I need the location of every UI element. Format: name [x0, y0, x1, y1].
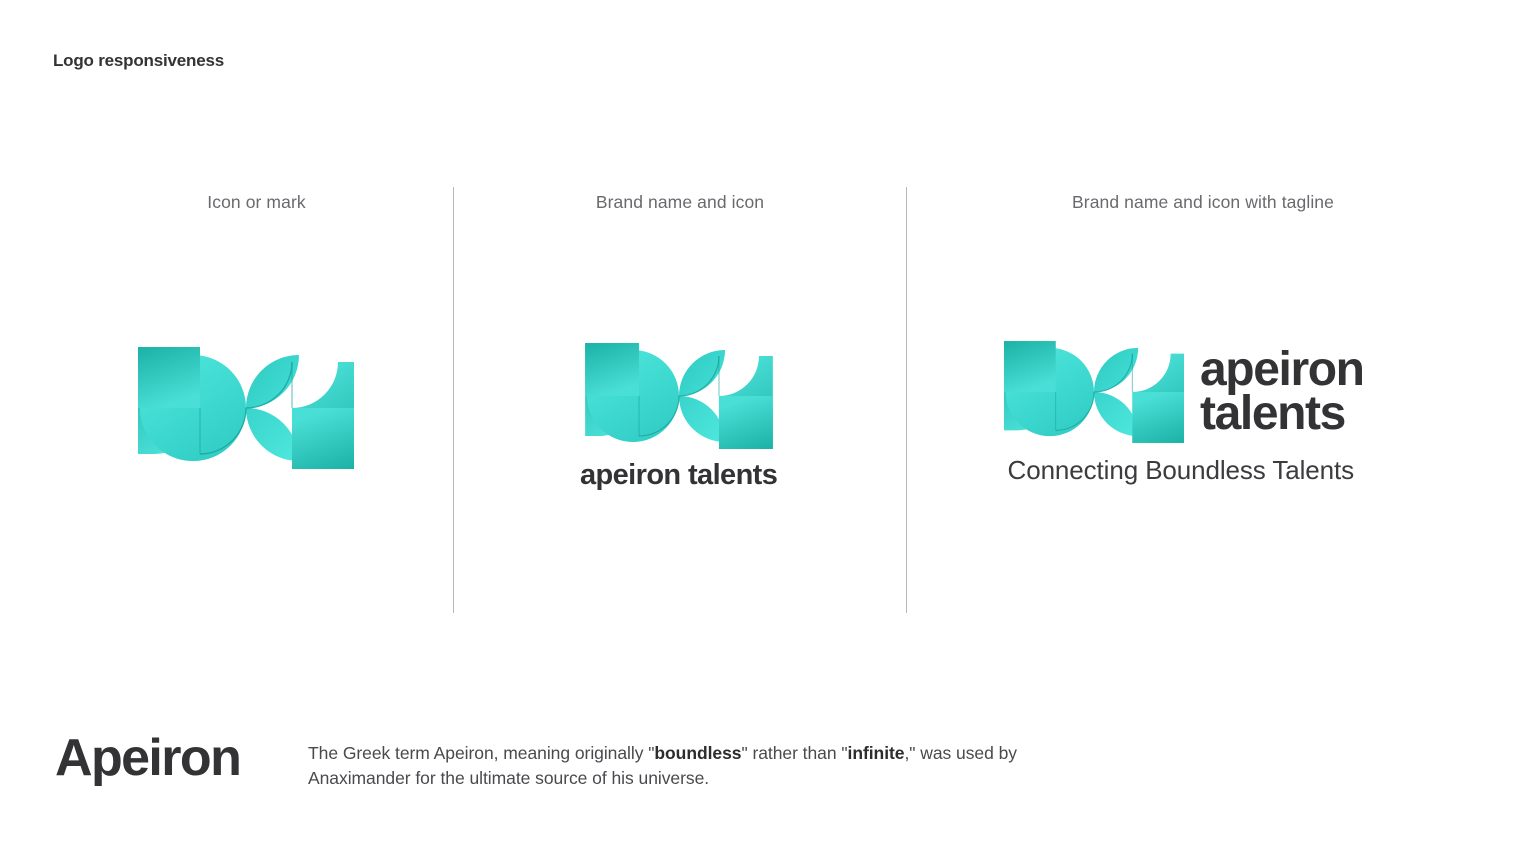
- wordmark-line-talents: talents: [1200, 392, 1364, 436]
- logo-lockup-name-icon-tagline: apeiron talents Connecting Boundless Tal…: [1004, 341, 1364, 486]
- column-header-icon-or-mark: Icon or mark: [60, 192, 453, 213]
- footer-desc-bold-infinite: infinite: [848, 743, 905, 763]
- column-header-brand-name-and-icon-with-tagline: Brand name and icon with tagline: [908, 192, 1498, 213]
- apeiron-logo-mark-icon: [1004, 341, 1184, 443]
- footer-desc-part-2: " rather than ": [741, 743, 847, 763]
- wordmark-apeiron-talents: apeiron talents: [580, 459, 777, 492]
- logo-variant-column-icon-only: Icon or mark: [60, 186, 453, 616]
- logo-lockup-mark-only: [138, 347, 354, 469]
- tagline-text: Connecting Boundless Talents: [1004, 455, 1364, 486]
- wordmark-line-apeiron: apeiron: [1200, 348, 1364, 392]
- apeiron-logo-mark-icon: [138, 347, 354, 469]
- column-header-brand-name-and-icon: Brand name and icon: [455, 192, 905, 213]
- page-title: Logo responsiveness: [53, 51, 224, 71]
- footer-description: The Greek term Apeiron, meaning original…: [308, 741, 1068, 791]
- logo-lockup-name-and-icon: apeiron talents: [580, 343, 777, 492]
- logo-variants-grid: Icon or mark: [0, 186, 1536, 616]
- apeiron-logo-mark-icon: [585, 343, 773, 449]
- footer-desc-bold-boundless: boundless: [654, 743, 741, 763]
- logo-variant-column-name-icon-tagline: Brand name and icon with tagline: [908, 186, 1498, 616]
- logo-lockup-row: apeiron talents: [1004, 341, 1364, 443]
- footer-word-apeiron: Apeiron: [55, 732, 240, 784]
- footer-desc-part-1: The Greek term Apeiron, meaning original…: [308, 743, 654, 763]
- wordmark-stacked: apeiron talents: [1200, 348, 1364, 436]
- logo-variant-column-name-and-icon: Brand name and icon: [455, 186, 905, 616]
